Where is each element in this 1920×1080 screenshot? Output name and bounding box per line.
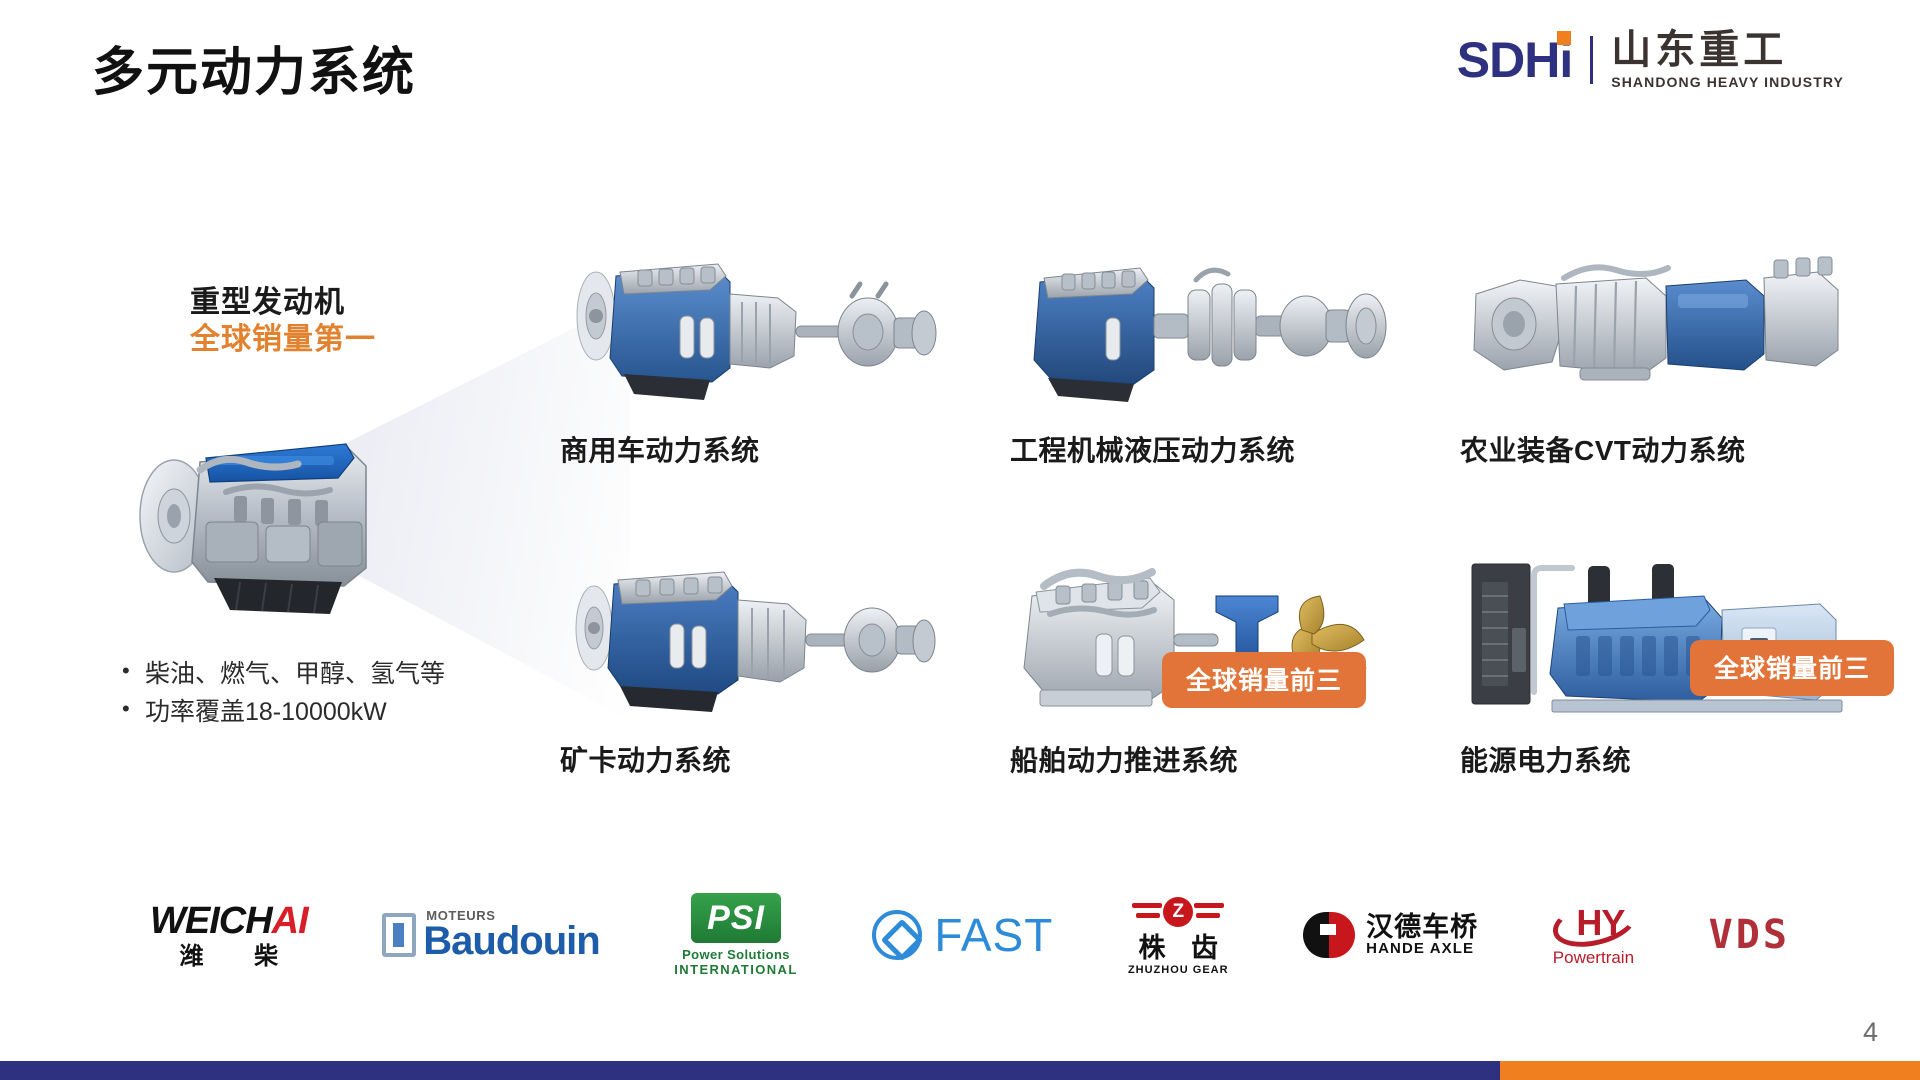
hande-mark-icon — [1303, 912, 1355, 958]
hero-bullet-item: 柴油、燃气、甲醇、氢气等 — [120, 655, 445, 693]
heavy-duty-engine-image — [130, 400, 430, 640]
vds-wordmark: VDS — [1709, 912, 1790, 958]
zhuzhou-name-en: ZHUZHOU GEAR — [1128, 965, 1229, 976]
zhuzhou-name-cn: 株 齿 — [1131, 935, 1226, 962]
partner-logo-fast: FAST — [872, 887, 1053, 983]
partner-logo-zhuzhou-gear: Z 株 齿 ZHUZHOU GEAR — [1128, 887, 1229, 983]
mining-truck-powertrain-image — [560, 542, 960, 727]
sdhi-text: SDHi — [1457, 32, 1572, 88]
weichai-name-cn: 潍 柴 — [157, 945, 300, 969]
hero-bullet-list: 柴油、燃气、甲醇、氢气等 功率覆盖18-10000kW — [120, 655, 445, 731]
marine-top3-badge: 全球销量前三 — [1162, 652, 1366, 708]
marine-propulsion-system-image: 全球销量前三 — [1010, 542, 1410, 727]
footer-bar-orange — [1500, 1061, 1920, 1080]
partner-logo-weichai: WEICHAI 潍 柴 — [150, 887, 308, 983]
product-label: 农业装备CVT动力系统 — [1460, 429, 1860, 469]
weichai-wordmark: WEICHAI — [150, 902, 308, 940]
partner-logo-psi: PSI Power Solutions INTERNATIONAL — [674, 887, 797, 983]
footer-bar — [0, 1061, 1920, 1080]
brand-name-en: SHANDONG HEAVY INDUSTRY — [1611, 75, 1844, 89]
page-title: 多元动力系统 — [92, 30, 416, 105]
product-label: 船舶动力推进系统 — [1010, 739, 1410, 779]
psi-wordmark: PSI — [707, 899, 765, 937]
product-label: 工程机械液压动力系统 — [1010, 429, 1410, 469]
hero-bullet-item: 功率覆盖18-10000kW — [120, 693, 445, 731]
psi-sub1: Power Solutions — [682, 947, 790, 962]
construction-machinery-hydraulic-powertrain-image — [1010, 232, 1410, 417]
brand-chinese-name: 山东重工 SHANDONG HEAVY INDUSTRY — [1611, 30, 1844, 89]
partner-logo-row: WEICHAI 潍 柴 MOTEURS Baudouin PSI Power S… — [150, 880, 1790, 990]
partner-logo-baudouin: MOTEURS Baudouin — [382, 887, 599, 983]
page-number: 4 — [1863, 1017, 1878, 1048]
partner-logo-hande-axle: 汉德车桥 HANDE AXLE — [1303, 887, 1478, 983]
footer-bar-navy — [0, 1061, 1500, 1080]
psi-sub2: INTERNATIONAL — [674, 962, 797, 977]
zhuzhou-gear-badge: Z — [1163, 897, 1193, 927]
fast-swirl-icon — [872, 910, 922, 960]
product-label: 矿卡动力系统 — [560, 739, 960, 779]
brand-name-cn: 山东重工 — [1611, 30, 1787, 70]
product-grid: 商用车动力系统 — [560, 232, 1860, 802]
sdhi-wordmark: SDHi — [1457, 35, 1572, 85]
partner-logo-lhy-powertrain: HY Powertrain — [1553, 887, 1634, 983]
hero-heading-line2: 全球销量第一 — [190, 322, 376, 359]
product-label: 商用车动力系统 — [560, 429, 960, 469]
product-card-mining-truck[interactable]: 矿卡动力系统 — [560, 542, 960, 779]
baudouin-mark-icon — [382, 913, 416, 957]
energy-power-generation-system-image: 全球销量前三 — [1460, 542, 1860, 727]
slide-root: 多元动力系统 SDHi 山东重工 SHANDONG HEAVY INDUSTRY… — [0, 0, 1920, 1080]
hero-heading-line1: 重型发动机 — [190, 285, 376, 322]
sdhi-orange-dot-icon — [1557, 31, 1571, 45]
energy-top3-badge: 全球销量前三 — [1690, 640, 1894, 696]
agricultural-cvt-powertrain-image — [1460, 232, 1860, 417]
product-label: 能源电力系统 — [1460, 739, 1860, 779]
partner-logo-vds: VDS — [1709, 887, 1790, 983]
hero-heading: 重型发动机 全球销量第一 — [190, 285, 376, 358]
brand-logo: SDHi 山东重工 SHANDONG HEAVY INDUSTRY — [1457, 30, 1844, 89]
zhuzhou-wing-icon: Z — [1132, 895, 1224, 931]
baudouin-wordmark: Baudouin — [423, 922, 599, 960]
lhy-swoosh-icon — [1548, 891, 1642, 954]
product-card-commercial-vehicle[interactable]: 商用车动力系统 — [560, 232, 960, 469]
lhy-sub: Powertrain — [1553, 949, 1634, 966]
product-card-construction-hydraulic[interactable]: 工程机械液压动力系统 — [1010, 232, 1410, 469]
fast-wordmark: FAST — [934, 908, 1053, 962]
product-card-agricultural-cvt[interactable]: 农业装备CVT动力系统 — [1460, 232, 1860, 469]
product-card-energy-power[interactable]: 全球销量前三 能源电力系统 — [1460, 542, 1860, 779]
commercial-vehicle-powertrain-image — [560, 232, 960, 417]
logo-divider — [1590, 36, 1593, 84]
hande-name-en: HANDE AXLE — [1366, 941, 1478, 957]
product-card-marine-propulsion[interactable]: 全球销量前三 船舶动力推进系统 — [1010, 542, 1410, 779]
hande-name-cn: 汉德车桥 — [1366, 913, 1478, 941]
